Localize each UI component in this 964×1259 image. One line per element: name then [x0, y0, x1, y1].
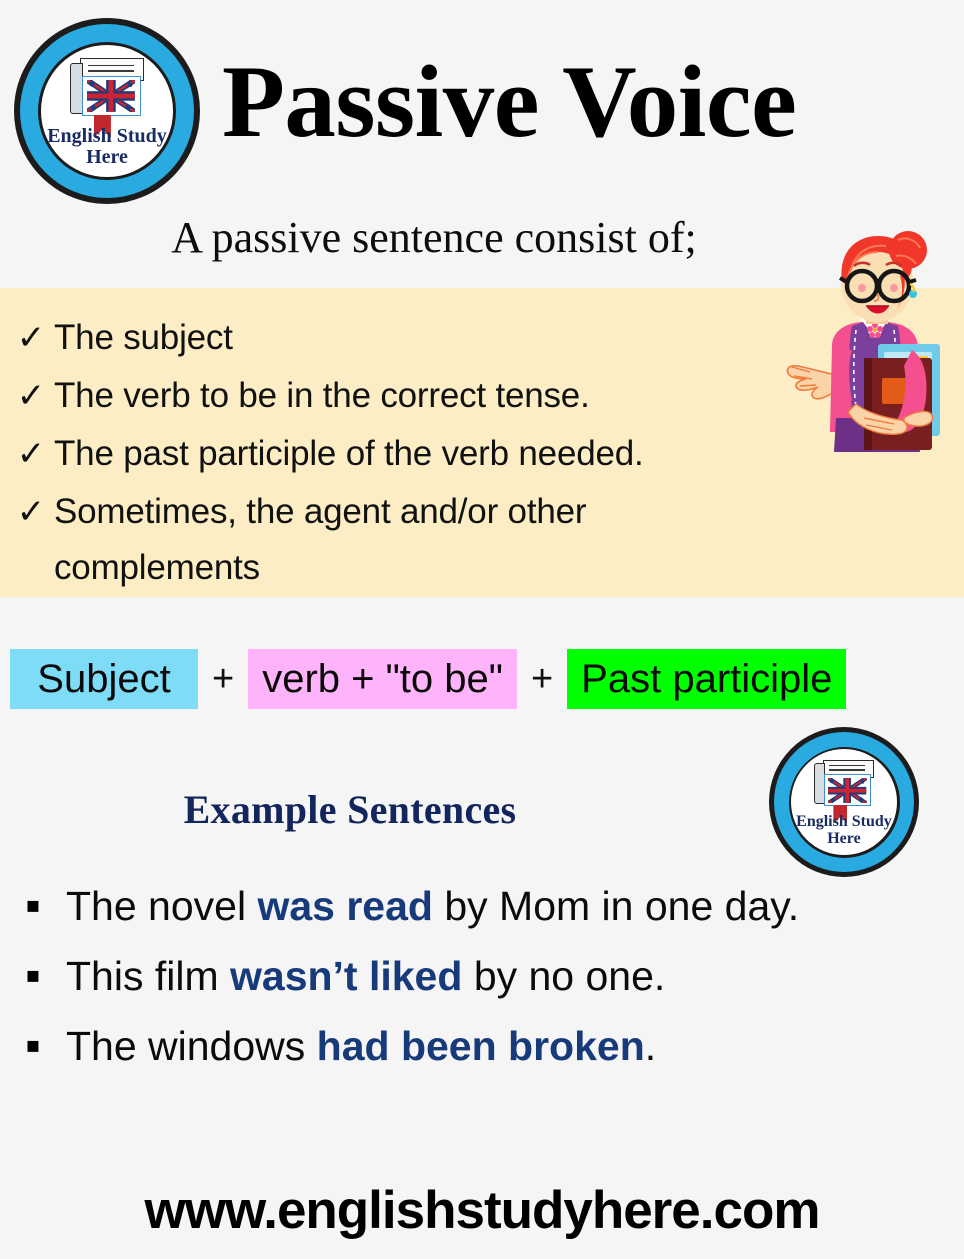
- list-item: ▪ The novel was read by Mom in one day.: [0, 874, 900, 938]
- uk-flag-icon: [828, 778, 866, 803]
- example-sentence: The windows had been broken.: [66, 1014, 656, 1078]
- formula-chip-subject: Subject: [10, 649, 198, 709]
- check-icon: ✓: [8, 310, 54, 366]
- square-bullet-icon: ▪: [0, 874, 66, 938]
- check-icon: ✓: [8, 426, 54, 482]
- rules-list: ✓ The subject ✓ The verb to be in the co…: [8, 310, 798, 598]
- book-icon: [814, 760, 873, 809]
- list-item: ✓ The verb to be in the correct tense.: [8, 368, 798, 424]
- sentence-after: by no one.: [462, 953, 665, 999]
- example-sentence: The novel was read by Mom in one day.: [66, 874, 799, 938]
- list-item: ▪ This film wasn’t liked by no one.: [0, 944, 900, 1008]
- formula-chip-past-participle: Past participle: [567, 649, 846, 709]
- examples-heading: Example Sentences: [0, 786, 700, 833]
- square-bullet-icon: ▪: [0, 944, 66, 1008]
- list-item: ▪ The windows had been broken.: [0, 1014, 900, 1078]
- check-icon: ✓: [8, 368, 54, 424]
- english-study-here-logo-top: English Study Here: [14, 18, 200, 204]
- sentence-highlight: was read: [257, 883, 433, 929]
- teacher-character: [752, 226, 964, 476]
- rule-text: The subject: [54, 310, 233, 366]
- logo-line-2: Here: [795, 831, 893, 848]
- check-icon: ✓: [8, 484, 54, 540]
- footer-website-url: www.englishstudyhere.com: [0, 1180, 964, 1241]
- english-study-here-logo-bottom: English Study Here: [769, 727, 919, 877]
- plus-sign: +: [517, 658, 567, 701]
- list-item: ✓ The past participle of the verb needed…: [8, 426, 798, 482]
- plus-sign: +: [198, 658, 248, 701]
- square-bullet-icon: ▪: [0, 1014, 66, 1078]
- list-item: ✓ The subject: [8, 310, 798, 366]
- page-title: Passive Voice: [222, 42, 942, 162]
- sentence-highlight: wasn’t liked: [230, 953, 462, 999]
- example-sentence: This film wasn’t liked by no one.: [66, 944, 665, 1008]
- examples-list: ▪ The novel was read by Mom in one day. …: [0, 874, 900, 1084]
- uk-flag-icon: [87, 80, 135, 112]
- book-icon: [70, 58, 144, 119]
- rule-text: Sometimes, the agent and/or other comple…: [54, 484, 754, 596]
- logo-line-1: English Study: [795, 814, 893, 831]
- sentence-after: by Mom in one day.: [433, 883, 799, 929]
- list-item: ✓ Sometimes, the agent and/or other comp…: [8, 484, 798, 596]
- sentence-after: .: [645, 1023, 656, 1069]
- sentence-before: The windows: [66, 1023, 317, 1069]
- page-subtitle: A passive sentence consist of;: [0, 212, 868, 263]
- sentence-before: The novel: [66, 883, 257, 929]
- rule-text: The past participle of the verb needed.: [54, 426, 644, 482]
- infographic-page: English Study Here Passive Voice A passi…: [0, 0, 964, 1259]
- logo-line-1: English Study: [46, 126, 167, 147]
- sentence-before: This film: [66, 953, 230, 999]
- sentence-highlight: had been broken: [317, 1023, 645, 1069]
- formula-chip-to-be: verb + "to be": [248, 649, 517, 709]
- rule-text: The verb to be in the correct tense.: [54, 368, 590, 424]
- passive-formula: Subject + verb + "to be" + Past particip…: [0, 643, 964, 715]
- logo-line-2: Here: [46, 147, 167, 168]
